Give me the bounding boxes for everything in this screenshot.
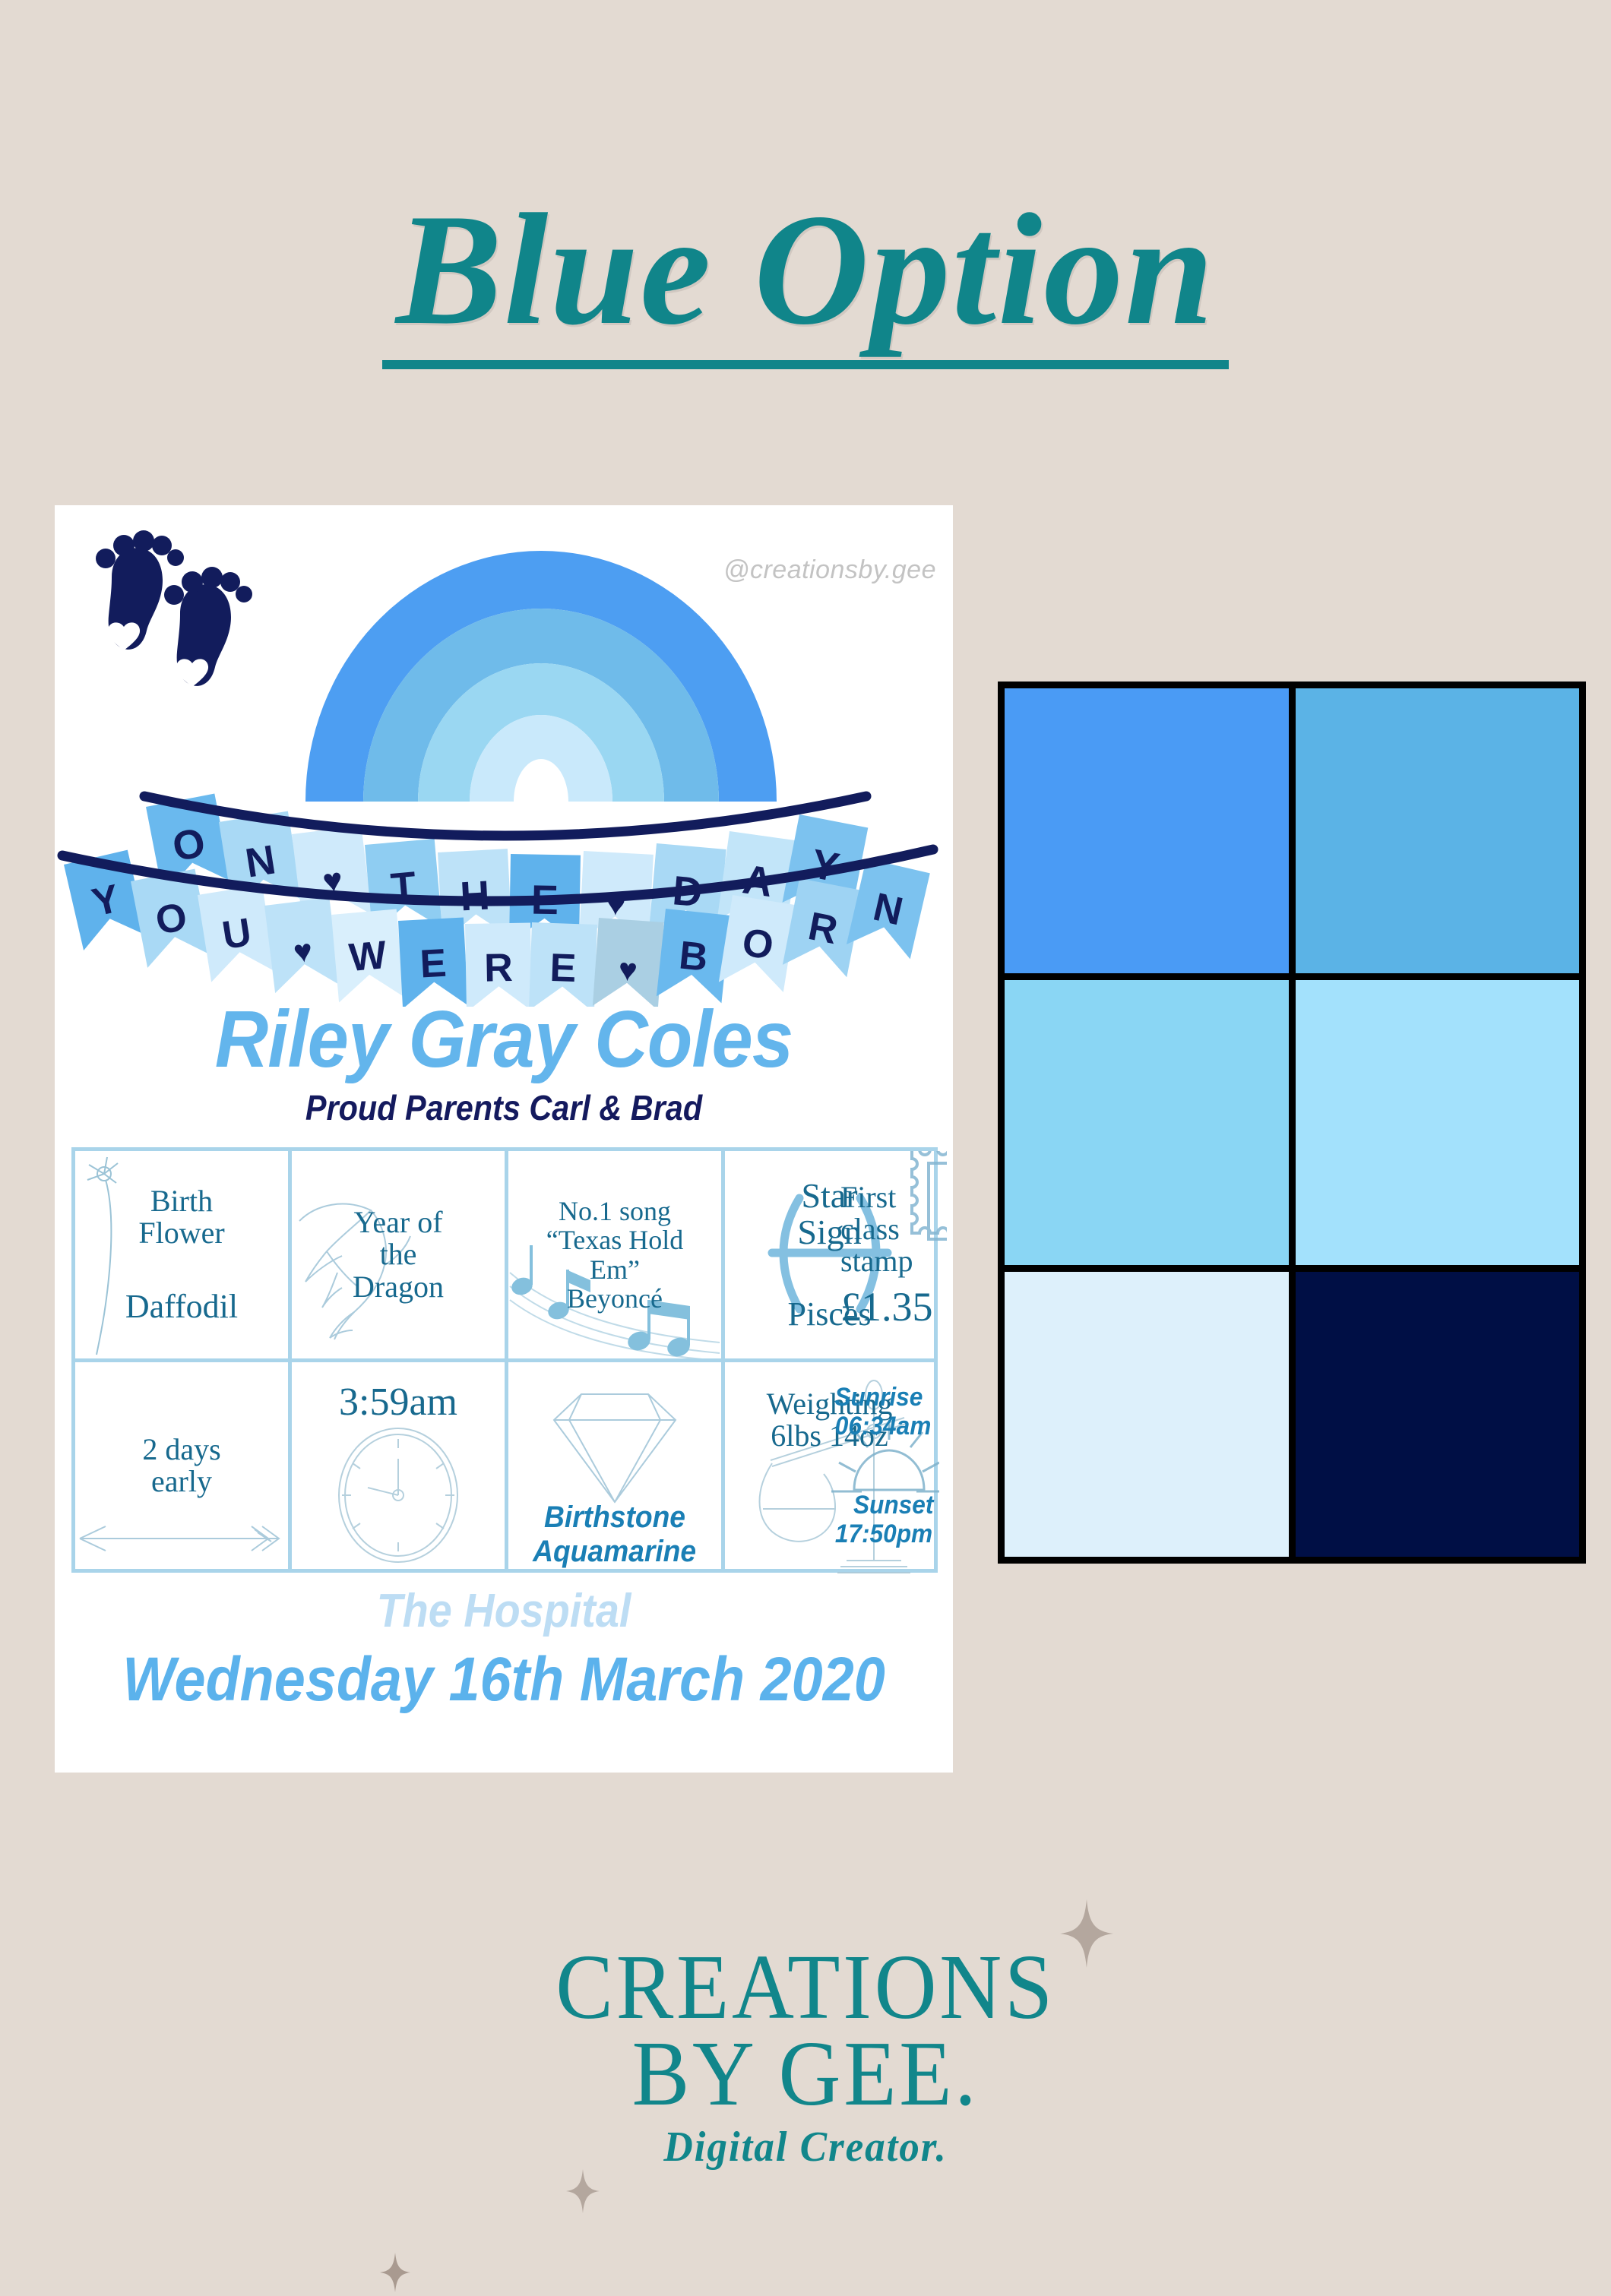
color-swatch[interactable] <box>1005 1272 1289 1557</box>
detail-label: “Texas Hold <box>546 1225 683 1254</box>
detail-label: Dragon <box>353 1271 444 1303</box>
detail-label: class <box>840 1213 900 1245</box>
detail-cell-year-of: Year of the Dragon <box>292 1151 505 1358</box>
daffodil-flower-icon <box>75 1151 288 1358</box>
detail-label: 2 days <box>142 1434 220 1466</box>
sparkle-icon <box>380 2253 410 2296</box>
detail-label: stamp <box>840 1245 913 1277</box>
detail-cell-birthstone: Birthstone Aquamarine <box>508 1362 721 1599</box>
detail-label: No.1 song <box>559 1197 671 1225</box>
page-title: Blue Option <box>0 190 1611 369</box>
svg-text:W: W <box>347 933 389 980</box>
detail-label: Beyoncé <box>567 1284 663 1313</box>
birth-date: Wednesday 16th March 2020 <box>100 1649 908 1711</box>
sparkle-icon <box>566 2169 600 2217</box>
banner-you-were-born: Y O U ♥ W E R E ♥ B O R N <box>55 828 953 1007</box>
color-swatch-grid <box>998 682 1586 1564</box>
detail-label: Aquamarine <box>533 1535 696 1569</box>
parents-line: Proud Parents Carl & Brad <box>100 1090 908 1125</box>
detail-value: £1.35 <box>840 1286 933 1329</box>
page-title-text: Blue Option <box>382 190 1229 369</box>
color-swatch[interactable] <box>1005 980 1289 1265</box>
detail-label: Sunset <box>853 1491 933 1520</box>
detail-label: Em” <box>590 1255 640 1284</box>
logo-line-1: CREATIONS <box>56 1945 1555 2030</box>
color-swatch[interactable] <box>1296 688 1580 973</box>
rainbow-icon <box>298 520 784 802</box>
detail-cell-birth-time: 3:59am <box>292 1362 505 1589</box>
detail-value: Daffodil <box>125 1289 238 1324</box>
color-swatch[interactable] <box>1005 688 1289 973</box>
detail-cell-days-early: 2 days early <box>75 1362 288 1569</box>
detail-label: Sunrise <box>834 1383 923 1412</box>
detail-label: First <box>840 1181 896 1213</box>
birth-details-grid: Birth Flower Daffodil Year of the Dragon <box>71 1147 938 1573</box>
svg-text:E: E <box>419 941 448 987</box>
detail-label: Year of <box>353 1207 442 1238</box>
brand-logo: CREATIONS BY GEE. Digital Creator. <box>0 1945 1611 2171</box>
detail-label: 17:50pm <box>835 1520 932 1548</box>
logo-line-2: BY GEE. <box>56 2030 1555 2118</box>
svg-text:♥: ♥ <box>617 951 638 988</box>
detail-cell-birth-flower: Birth Flower Daffodil <box>75 1151 288 1358</box>
detail-label: Birth <box>150 1185 213 1217</box>
color-swatch[interactable] <box>1296 1272 1580 1557</box>
svg-text:R: R <box>484 946 514 991</box>
detail-label: early <box>151 1466 212 1497</box>
hospital-name: The Hospital <box>100 1588 908 1635</box>
detail-label: the <box>380 1238 417 1270</box>
color-swatch[interactable] <box>1296 980 1580 1265</box>
detail-label: Flower <box>138 1217 224 1249</box>
svg-text:B: B <box>677 933 710 980</box>
detail-value: 3:59am <box>339 1382 457 1424</box>
svg-text:E: E <box>549 946 578 991</box>
birth-announcement-card: @creationsby.gee O N ♥ T H E ♥ D A Y <box>55 505 953 1773</box>
baby-feet-icon <box>89 524 279 699</box>
watermark-text: @creationsby.gee <box>723 555 936 585</box>
logo-tagline: Digital Creator. <box>40 2123 1571 2171</box>
detail-cell-sunrise-sunset: Sunrise 06:34am Sunset 17:50pm <box>828 1362 939 1569</box>
baby-name: Riley Gray Coles <box>90 999 916 1080</box>
detail-cell-first-class-stamp: First class stamp £1.35 <box>831 1151 947 1358</box>
detail-label: Birthstone <box>544 1501 685 1535</box>
detail-cell-no1-song: No.1 song “Texas Hold Em” Beyoncé <box>508 1151 721 1358</box>
detail-label: 06:34am <box>835 1412 932 1441</box>
